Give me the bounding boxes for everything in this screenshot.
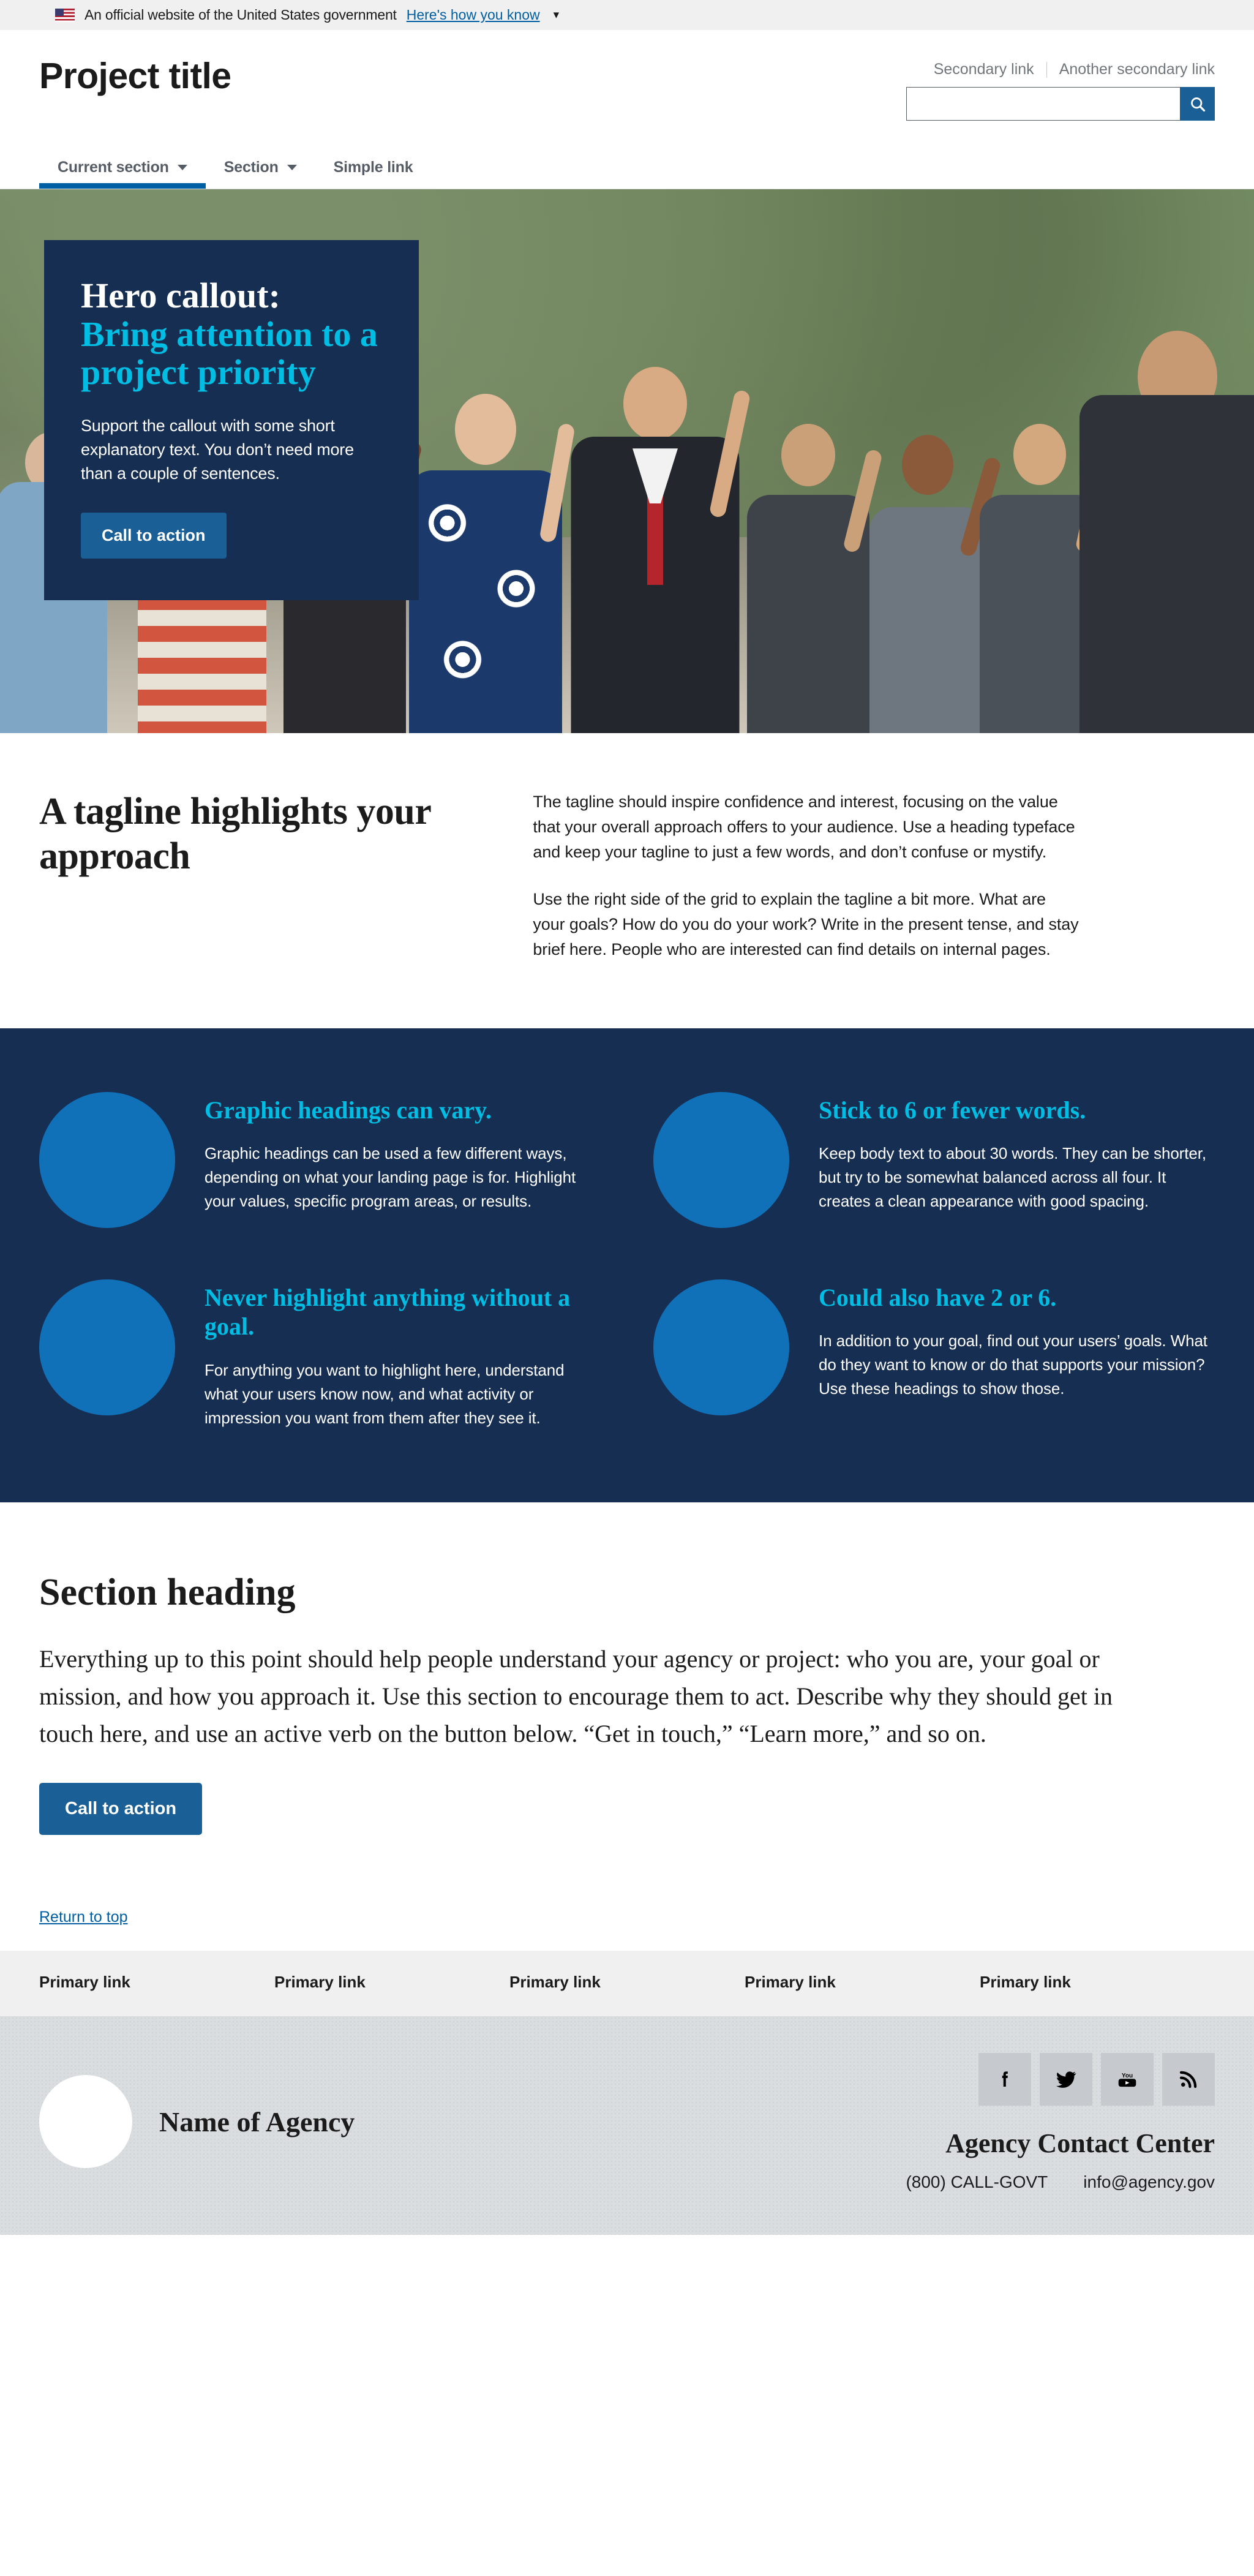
section-cta-button[interactable]: Call to action xyxy=(39,1783,202,1835)
contact-email[interactable]: info@agency.gov xyxy=(1083,2172,1215,2192)
agency-seal-icon xyxy=(39,2075,132,2168)
tagline-left-column: A tagline highlights your approach xyxy=(39,789,533,962)
graphic-body-text: For anything you want to highlight here,… xyxy=(205,1358,601,1430)
footer-primary-link[interactable]: Primary link xyxy=(274,1973,509,1992)
section-heading: Section heading xyxy=(39,1570,1215,1615)
gov-banner: An official website of the United States… xyxy=(0,0,1254,30)
chevron-down-icon xyxy=(287,165,297,170)
secondary-links-divider xyxy=(1046,62,1047,78)
graphic-circle-icon xyxy=(653,1092,789,1228)
graphic-body-text: In addition to your goal, find out your … xyxy=(819,1329,1215,1401)
search-input[interactable] xyxy=(906,87,1180,121)
svg-text:You: You xyxy=(1122,2073,1133,2079)
hero-section: Hero callout: Bring attention to a proje… xyxy=(0,189,1254,733)
graphic-heading: Never highlight anything without a goal. xyxy=(205,1283,601,1341)
header-right: Secondary link Another secondary link xyxy=(906,58,1215,121)
graphic-heading: Stick to 6 or fewer words. xyxy=(819,1096,1215,1124)
nav-list: Current section Section Simple link xyxy=(0,145,1254,189)
tagline-right-column: The tagline should inspire confidence an… xyxy=(533,789,1215,962)
footer-primary-links: Primary link Primary link Primary link P… xyxy=(0,1951,1254,2016)
gov-banner-text: An official website of the United States… xyxy=(84,7,397,23)
nav-item-label: Current section xyxy=(58,159,169,176)
contact-block: You Agency xyxy=(906,2053,1215,2192)
return-to-top-wrapper: Return to top xyxy=(0,1872,1254,1951)
section-heading-block: Section heading Everything up to this po… xyxy=(0,1502,1254,1872)
chevron-down-icon xyxy=(178,165,187,170)
tagline-heading: A tagline highlights your approach xyxy=(39,789,496,879)
search-form xyxy=(906,87,1215,121)
contact-details: (800) CALL-GOVT info@agency.gov xyxy=(906,2172,1215,2192)
graphic-card: Stick to 6 or fewer words. Keep body tex… xyxy=(653,1092,1215,1228)
secondary-links: Secondary link Another secondary link xyxy=(934,61,1215,78)
social-links: You xyxy=(978,2053,1215,2106)
hero-cta-button[interactable]: Call to action xyxy=(81,513,227,559)
contact-phone[interactable]: (800) CALL-GOVT xyxy=(906,2172,1048,2192)
graphics-section: Graphic headings can vary. Graphic headi… xyxy=(0,1028,1254,1502)
return-to-top-link[interactable]: Return to top xyxy=(39,1908,128,1926)
project-title[interactable]: Project title xyxy=(39,58,231,94)
contact-center-title: Agency Contact Center xyxy=(945,2128,1215,2159)
site-header: Project title Secondary link Another sec… xyxy=(0,30,1254,145)
nav-item-section[interactable]: Section xyxy=(206,145,315,189)
hero-heading-accent: Bring attention to a project priority xyxy=(81,315,382,392)
twitter-icon xyxy=(1054,2068,1078,2091)
agency-identifier: Name of Agency xyxy=(39,2053,355,2168)
agency-name: Name of Agency xyxy=(159,2106,355,2138)
nav-item-label: Section xyxy=(224,159,279,176)
how-you-know-link[interactable]: Here's how you know xyxy=(407,7,540,23)
graphic-card: Graphic headings can vary. Graphic headi… xyxy=(39,1092,601,1228)
hero-callout: Hero callout: Bring attention to a proje… xyxy=(44,240,419,600)
graphic-body-text: Keep body text to about 30 words. They c… xyxy=(819,1142,1215,1213)
nav-item-label: Simple link xyxy=(334,159,413,176)
secondary-link-1[interactable]: Secondary link xyxy=(934,61,1034,78)
tagline-paragraph-1: The tagline should inspire confidence an… xyxy=(533,789,1080,865)
tagline-paragraph-2: Use the right side of the grid to explai… xyxy=(533,887,1080,962)
footer-primary-link[interactable]: Primary link xyxy=(39,1973,274,1992)
hero-heading-line1: Hero callout: xyxy=(81,276,280,315)
twitter-link[interactable] xyxy=(1040,2053,1092,2106)
graphic-circle-icon xyxy=(653,1279,789,1415)
nav-item-current-section[interactable]: Current section xyxy=(39,145,206,189)
graphic-body-text: Graphic headings can be used a few diffe… xyxy=(205,1142,601,1213)
graphic-circle-icon xyxy=(39,1279,175,1415)
hero-heading: Hero callout: Bring attention to a proje… xyxy=(81,277,382,392)
rss-icon xyxy=(1177,2068,1200,2090)
graphic-heading: Could also have 2 or 6. xyxy=(819,1283,1215,1312)
footer-primary-link[interactable]: Primary link xyxy=(745,1973,980,1992)
footer-secondary: Name of Agency xyxy=(0,2016,1254,2235)
site-footer: Primary link Primary link Primary link P… xyxy=(0,1951,1254,2235)
graphic-heading: Graphic headings can vary. xyxy=(205,1096,601,1124)
search-icon xyxy=(1189,96,1206,113)
footer-primary-link[interactable]: Primary link xyxy=(980,1973,1215,1992)
youtube-icon: You xyxy=(1115,2068,1139,2090)
tagline-section: A tagline highlights your approach The t… xyxy=(0,733,1254,1028)
facebook-link[interactable] xyxy=(978,2053,1031,2106)
section-body-text: Everything up to this point should help … xyxy=(39,1641,1129,1752)
hero-body-text: Support the callout with some short expl… xyxy=(81,414,382,486)
youtube-link[interactable]: You xyxy=(1101,2053,1154,2106)
primary-nav: Current section Section Simple link xyxy=(0,145,1254,189)
facebook-icon xyxy=(994,2068,1016,2090)
secondary-link-2[interactable]: Another secondary link xyxy=(1059,61,1215,78)
nav-item-simple-link[interactable]: Simple link xyxy=(315,145,432,189)
graphic-card: Never highlight anything without a goal.… xyxy=(39,1279,601,1429)
graphic-circle-icon xyxy=(39,1092,175,1228)
search-button[interactable] xyxy=(1180,87,1215,121)
graphic-card: Could also have 2 or 6. In addition to y… xyxy=(653,1279,1215,1429)
footer-primary-link[interactable]: Primary link xyxy=(509,1973,745,1992)
rss-link[interactable] xyxy=(1162,2053,1215,2106)
page-root: An official website of the United States… xyxy=(0,0,1254,2235)
chevron-down-icon[interactable]: ▾ xyxy=(554,8,560,22)
us-flag-icon xyxy=(55,9,75,22)
